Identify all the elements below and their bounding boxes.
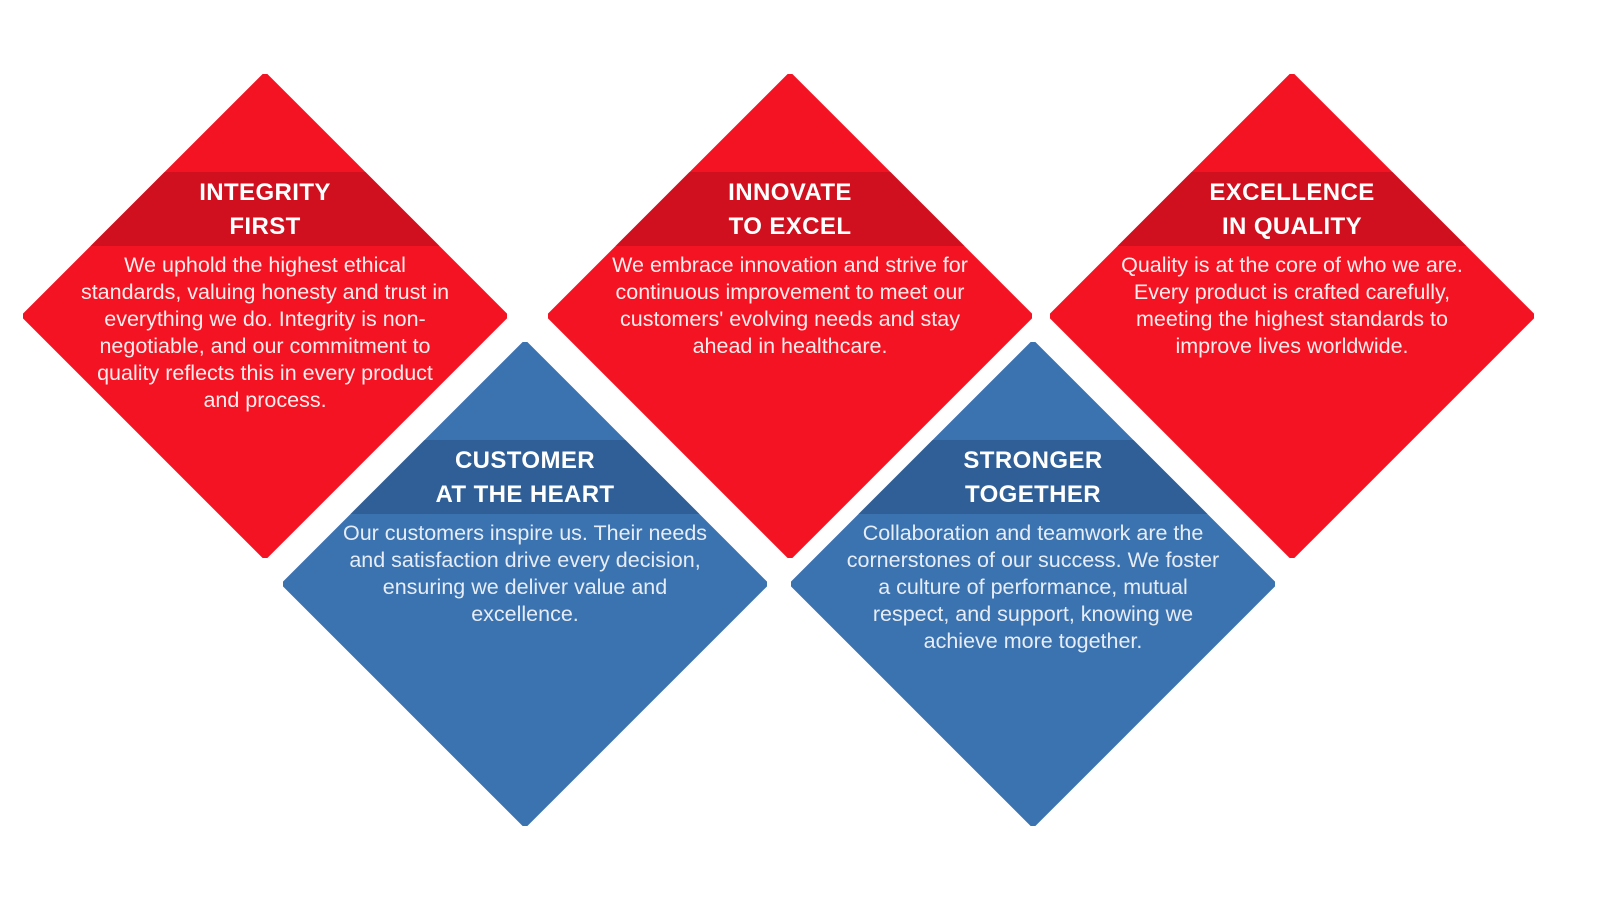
value-description: Our customers inspire us. Their needs an…	[337, 520, 713, 628]
value-diamond-stronger-together[interactable]: STRONGER TOGETHER Collaboration and team…	[791, 342, 1275, 826]
value-description: Collaboration and teamwork are the corne…	[845, 520, 1221, 655]
values-diamond-diagram: INTEGRITY FIRST We uphold the highest et…	[0, 0, 1600, 900]
